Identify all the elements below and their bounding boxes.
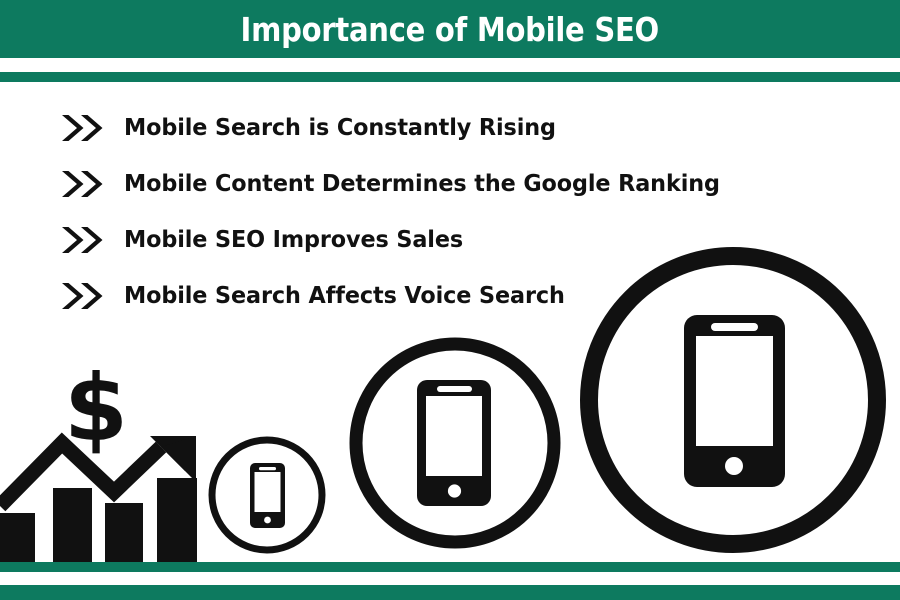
list-item-label: Mobile SEO Improves Sales — [124, 229, 463, 252]
smartphone-icon — [417, 380, 491, 506]
list-item-label: Mobile Content Determines the Google Ran… — [124, 173, 720, 196]
benefits-list: Mobile Search is Constantly Rising Mobil… — [60, 100, 760, 324]
list-item: Mobile SEO Improves Sales — [60, 212, 760, 268]
list-item: Mobile Search Affects Voice Search — [60, 268, 760, 324]
list-item: Mobile Search is Constantly Rising — [60, 100, 760, 156]
smartphone-icon — [250, 463, 285, 528]
double-chevron-right-icon — [60, 281, 106, 311]
list-item: Mobile Content Determines the Google Ran… — [60, 156, 760, 212]
smartphone-icon — [684, 315, 785, 487]
double-chevron-right-icon — [60, 169, 106, 199]
dollar-sign-icon: $ — [64, 355, 128, 462]
rising-arrow-icon — [0, 436, 196, 506]
top-divider-rule — [0, 72, 900, 82]
list-item-label: Mobile Search is Constantly Rising — [124, 117, 556, 140]
chart-bar — [105, 503, 143, 562]
mobile-seo-infographic: Importance of Mobile SEO Mobile Search i… — [0, 0, 900, 600]
dollar-growth-chart-icon: $ — [0, 355, 197, 562]
list-item-label: Mobile Search Affects Voice Search — [124, 285, 565, 308]
double-chevron-right-icon — [60, 113, 106, 143]
page-title: Importance of Mobile SEO — [241, 13, 659, 46]
footer-band — [0, 585, 900, 600]
chart-bar — [157, 478, 197, 562]
bottom-divider-rule — [0, 562, 900, 572]
chart-bar — [0, 513, 35, 562]
chart-bar — [53, 488, 92, 562]
smartphone-in-circle-icon-small — [212, 440, 322, 550]
header-band: Importance of Mobile SEO — [0, 0, 900, 58]
smartphone-in-circle-icon-medium — [356, 344, 554, 542]
double-chevron-right-icon — [60, 225, 106, 255]
svg-text:$: $ — [64, 355, 128, 462]
